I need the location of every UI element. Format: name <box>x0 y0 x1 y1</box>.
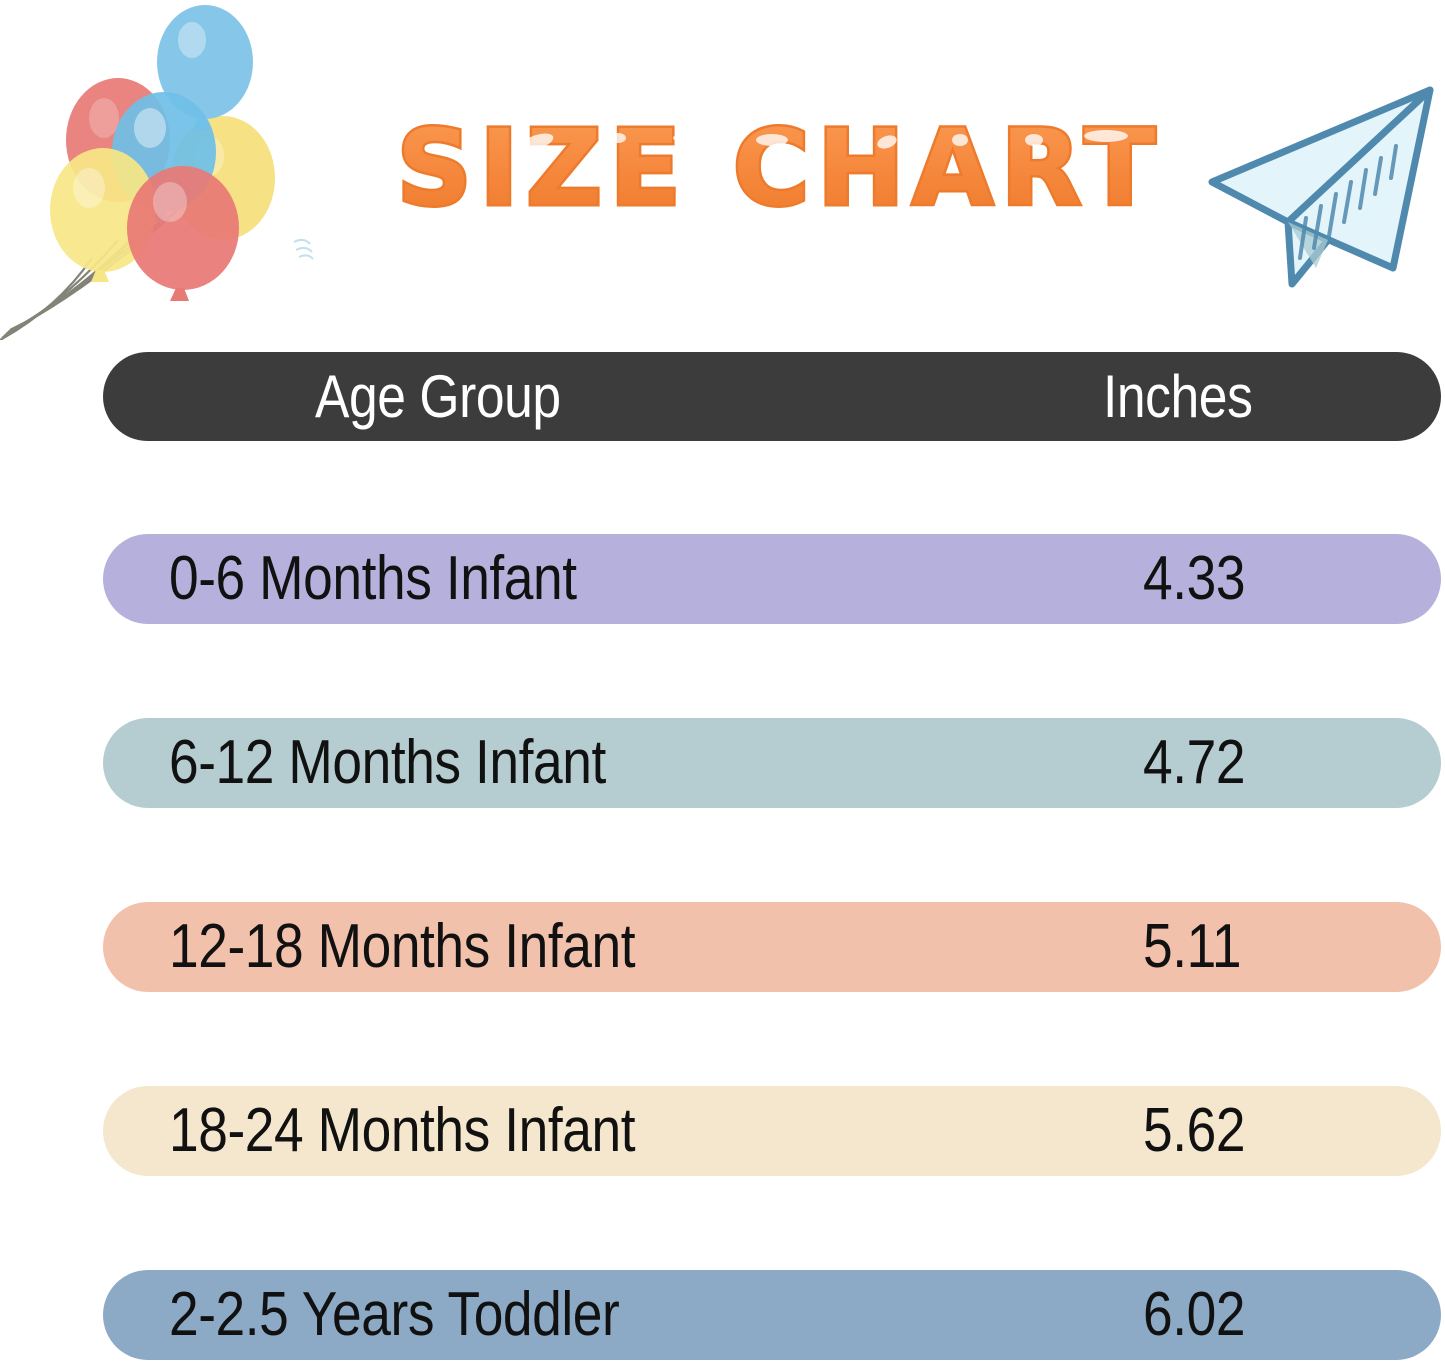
column-header-inches: Inches <box>1103 367 1387 427</box>
table-row: 0-6 Months Infant 4.33 <box>103 534 1441 624</box>
size-chart-page: SIZE CHART <box>0 0 1445 1365</box>
row-inches: 5.62 <box>1143 1100 1427 1162</box>
column-header-age-group: Age Group <box>315 367 1089 427</box>
size-table: Age Group Inches 0-6 Months Infant 4.33 … <box>103 352 1441 1360</box>
table-row: 6-12 Months Infant 4.72 <box>103 718 1441 808</box>
row-age-group: 6-12 Months Infant <box>169 732 943 794</box>
balloon-cluster-icon <box>0 0 330 340</box>
row-age-group: 0-6 Months Infant <box>169 548 943 610</box>
title-artwork: SIZE CHART <box>390 98 1170 238</box>
title-text: SIZE CHART <box>400 107 1160 229</box>
header-band: SIZE CHART <box>0 0 1445 340</box>
row-age-group: 12-18 Months Infant <box>169 916 943 978</box>
table-row: 18-24 Months Infant 5.62 <box>103 1086 1441 1176</box>
row-age-group: 2-2.5 Years Toddler <box>169 1284 943 1346</box>
table-row: 12-18 Months Infant 5.11 <box>103 902 1441 992</box>
paper-airplane-icon <box>1188 72 1443 297</box>
row-inches: 5.11 <box>1143 916 1427 978</box>
row-inches: 4.33 <box>1143 548 1427 610</box>
row-age-group: 18-24 Months Infant <box>169 1100 943 1162</box>
table-header-row: Age Group Inches <box>103 352 1441 441</box>
row-inches: 4.72 <box>1143 732 1427 794</box>
row-inches: 6.02 <box>1143 1284 1427 1346</box>
table-row: 2-2.5 Years Toddler 6.02 <box>103 1270 1441 1360</box>
